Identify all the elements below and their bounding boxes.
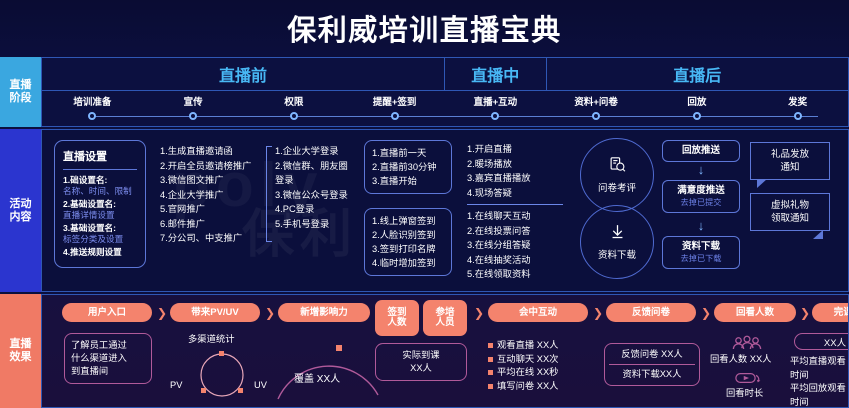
login-item-1: 2.微信群、朋友圈 bbox=[275, 159, 348, 174]
live-item-0: 1.开启直播 bbox=[467, 142, 531, 157]
download-icon bbox=[609, 223, 626, 243]
download-circle-label: 资料下载 bbox=[598, 247, 636, 261]
replay-push-box[interactable]: 回放推送 bbox=[662, 140, 740, 162]
virtual-gift-line1: 虚拟礼物 bbox=[753, 199, 827, 212]
meeting-stat-0: 观看直播 XX人 bbox=[488, 339, 558, 353]
page-title: 保利威培训直播宝典 bbox=[287, 7, 562, 49]
content-row: 活动内容 poly 保利 直播设置 1.础设置名: 名称、时间、限制 2.基础设… bbox=[0, 129, 849, 292]
phase-cell-live[interactable]: 直播中 bbox=[445, 58, 547, 91]
step-label-0: 培训准备 bbox=[73, 94, 111, 108]
live-item-2: 3.嘉宾直播播放 bbox=[467, 171, 531, 186]
live-item-1: 2.暖场播放 bbox=[467, 157, 531, 172]
chevron-2-icon: ❯ bbox=[265, 306, 275, 320]
signin-item-2: 3.签到打印名牌 bbox=[372, 242, 444, 256]
row-label-effect-text: 直播效果 bbox=[10, 338, 32, 364]
promotion-item-1: 2.开启全员邀请榜推广 bbox=[160, 159, 251, 174]
satisfaction-push-main: 满意度推送 bbox=[665, 185, 737, 197]
step-dot-5 bbox=[592, 112, 600, 120]
pill-feedback[interactable]: 反馈问卷 bbox=[606, 303, 696, 322]
signin-item-0: 1.线上弹窗签到 bbox=[372, 214, 444, 228]
phase-header: 直播前 直播中 直播后 bbox=[42, 58, 848, 91]
survey-circle[interactable]: 问卷考评 bbox=[580, 138, 654, 212]
download-circle[interactable]: 资料下载 bbox=[580, 205, 654, 279]
settings-item-0: 1.础设置名: 名称、时间、限制 bbox=[63, 175, 137, 197]
signin-item-1: 2.人脸识别签到 bbox=[372, 228, 444, 242]
feedback-box: 反馈问卷 XX人 资料下载XX人 bbox=[604, 343, 700, 386]
material-download-main: 资料下载 bbox=[665, 241, 737, 253]
pill-attendees[interactable]: 参培人员 bbox=[423, 300, 467, 336]
login-item-4: 5.手机号登录 bbox=[275, 217, 348, 232]
completion-line-0: 平均直播观看时间 bbox=[790, 355, 848, 382]
row-label-content: 活动内容 bbox=[0, 129, 41, 292]
actual-attendance-box: 实际到课XX人 bbox=[375, 343, 467, 381]
pill-user-entry[interactable]: 用户入口 bbox=[62, 303, 152, 322]
uv-label: UV bbox=[254, 379, 267, 393]
step-item-0[interactable]: 培训准备 bbox=[42, 91, 143, 126]
title-bar: 保利威培训直播宝典 bbox=[0, 0, 849, 55]
settings-item-1: 2.基础设置名: 直播详情设置 bbox=[63, 199, 137, 221]
signin-item-3: 4.临时增加签到 bbox=[372, 256, 444, 270]
completion-line-1: 平均回放观看时间 bbox=[790, 382, 848, 408]
interact-list: 1.在线聊天互动 2.在线投票问答 3.在线分组答疑 4.在线抽奖活动 5.在线… bbox=[467, 209, 531, 282]
step-label-1: 宣传 bbox=[184, 94, 203, 108]
gift-notice-line1: 礼品发放 bbox=[753, 148, 827, 161]
replay-push-main: 回放推送 bbox=[665, 145, 737, 157]
settings-item-3: 4.推送规则设置 bbox=[63, 247, 137, 258]
completion-lines: 平均直播观看时间 平均回放观看时间 平均课程观看比例 bbox=[790, 355, 848, 408]
effect-row: 直播效果 用户入口 ❯ 带来PV/UV ❯ 新增影响力 签到人数 参培人员 ❯ … bbox=[0, 294, 849, 408]
login-item-1b: 登录 bbox=[275, 173, 348, 188]
step-item-4[interactable]: 直播+互动 bbox=[445, 91, 546, 126]
gift-notice-bubble[interactable]: 礼品发放 通知 bbox=[750, 142, 830, 180]
survey-circle-label: 问卷考评 bbox=[598, 180, 636, 194]
satisfaction-push-sub: 去掉已提交 bbox=[665, 197, 737, 208]
phase-cell-pre[interactable]: 直播前 bbox=[42, 58, 445, 91]
remind-item-0: 1.直播前一天 bbox=[372, 146, 444, 160]
chevron-5-icon: ❯ bbox=[701, 306, 711, 320]
content-body: poly 保利 直播设置 1.础设置名: 名称、时间、限制 2.基础设置名: 直… bbox=[41, 129, 849, 292]
interact-item-0: 1.在线聊天互动 bbox=[467, 209, 531, 224]
step-label-3: 提醒+签到 bbox=[373, 94, 417, 108]
settings-item-0-sub: 名称、时间、限制 bbox=[63, 186, 137, 197]
chevron-6-icon: ❯ bbox=[800, 306, 810, 320]
satisfaction-push-box[interactable]: 满意度推送 去掉已提交 bbox=[662, 180, 740, 213]
entry-description-box: 了解员工通过什么渠道进入到直播间 bbox=[64, 333, 152, 384]
gift-notice-line2: 通知 bbox=[753, 161, 827, 174]
feedback-divider bbox=[609, 364, 695, 365]
completion-badge: XX人 bbox=[794, 333, 849, 350]
pill-meeting-interaction[interactable]: 会中互动 bbox=[488, 303, 588, 322]
poster-root: 保利威培训直播宝典 直播阶段 直播前 直播中 直播后 培训准备 宣传 bbox=[0, 0, 849, 408]
settings-item-1-sub: 直播详情设置 bbox=[63, 210, 137, 221]
feedback-line-2: 资料下载XX人 bbox=[609, 368, 695, 381]
coverage-label: 覆盖 XX人 bbox=[294, 373, 340, 387]
chevron-4-icon: ❯ bbox=[593, 306, 603, 320]
pill-signin-count[interactable]: 签到人数 bbox=[375, 300, 419, 336]
promotion-item-0: 1.生成直播邀请函 bbox=[160, 144, 251, 159]
stage-body: 直播前 直播中 直播后 培训准备 宣传 权限 提醒 bbox=[41, 57, 849, 127]
row-label-stage: 直播阶段 bbox=[0, 57, 41, 127]
meeting-stat-3: 填写问卷 XX人 bbox=[488, 380, 558, 394]
interact-item-1: 2.在线投票问答 bbox=[467, 224, 531, 239]
settings-item-2-main: 3.基础设置名: bbox=[63, 223, 137, 234]
promotion-item-6: 7.分公司、中支推广 bbox=[160, 231, 251, 246]
promotion-item-5: 6.邮件推广 bbox=[160, 217, 251, 232]
flow-arrow-1: ↓ bbox=[698, 162, 705, 177]
live-settings-box[interactable]: 直播设置 1.础设置名: 名称、时间、限制 2.基础设置名: 直播详情设置 3.… bbox=[54, 140, 146, 268]
interact-item-2: 3.在线分组答疑 bbox=[467, 238, 531, 253]
row-label-effect: 直播效果 bbox=[0, 294, 41, 408]
promotion-item-2: 3.微信图文推广 bbox=[160, 173, 251, 188]
step-dot-2 bbox=[290, 112, 298, 120]
step-item-1[interactable]: 宣传 bbox=[143, 91, 244, 126]
live-item-3: 4.现场答疑 bbox=[467, 186, 531, 201]
meeting-stat-1: 互动聊天 XX次 bbox=[488, 353, 558, 367]
pv-label: PV bbox=[170, 379, 182, 393]
pv-uv-circle-graphic bbox=[188, 347, 256, 403]
promotion-item-3: 4.企业大学推广 bbox=[160, 188, 251, 203]
remind-box[interactable]: 1.直播前一天 2.直播前30分钟 3.直播开始 bbox=[364, 140, 452, 194]
login-bracket bbox=[266, 146, 272, 242]
settings-item-2-sub: 标签分类及设置 bbox=[63, 234, 137, 245]
step-label-4: 直播+互动 bbox=[474, 94, 518, 108]
multichannel-title: 多渠道统计 bbox=[188, 333, 235, 347]
step-label-5: 资料+问卷 bbox=[574, 94, 618, 108]
row-label-stage-text: 直播阶段 bbox=[10, 79, 32, 105]
step-dot-4 bbox=[491, 112, 499, 120]
step-label-2: 权限 bbox=[284, 94, 303, 108]
interact-item-4: 5.在线领取资料 bbox=[467, 267, 531, 282]
stage-row: 直播阶段 直播前 直播中 直播后 培训准备 宣传 权限 bbox=[0, 57, 849, 127]
step-label-7: 发奖 bbox=[788, 94, 807, 108]
pill-replay-count[interactable]: 回看人数 bbox=[714, 303, 796, 322]
replay-duration-text: 回看时长 bbox=[726, 387, 763, 401]
step-dot-7 bbox=[794, 112, 802, 120]
chevron-1-icon: ❯ bbox=[157, 306, 167, 320]
virtual-gift-bubble[interactable]: 虚拟礼物 领取通知 bbox=[750, 193, 830, 231]
step-item-2[interactable]: 权限 bbox=[244, 91, 345, 126]
step-label-6: 回放 bbox=[687, 94, 706, 108]
pill-completion-rate[interactable]: 完课率 bbox=[812, 303, 849, 322]
virtual-gift-line2: 领取通知 bbox=[753, 212, 827, 225]
pill-influence[interactable]: 新增影响力 bbox=[278, 303, 370, 322]
step-dot-6 bbox=[693, 112, 701, 120]
material-download-sub: 去掉已下载 bbox=[665, 253, 737, 264]
step-item-6[interactable]: 回放 bbox=[647, 91, 748, 126]
phase-cell-post[interactable]: 直播后 bbox=[547, 58, 849, 91]
settings-item-1-main: 2.基础设置名: bbox=[63, 199, 137, 210]
step-item-7[interactable]: 发奖 bbox=[747, 91, 848, 126]
chevron-3-icon: ❯ bbox=[474, 306, 484, 320]
effect-body: 用户入口 ❯ 带来PV/UV ❯ 新增影响力 签到人数 参培人员 ❯ 会中互动 … bbox=[41, 294, 849, 408]
login-item-3: 4.PC登录 bbox=[275, 202, 348, 217]
feedback-line-1: 反馈问卷 XX人 bbox=[609, 348, 695, 361]
live-list-divider bbox=[467, 204, 563, 205]
login-item-2: 3.微信公众号登录 bbox=[275, 188, 348, 203]
settings-item-3-main: 4.推送规则设置 bbox=[63, 247, 137, 258]
promotion-item-4: 5.官网推广 bbox=[160, 202, 251, 217]
flow-arrow-2: ↓ bbox=[698, 218, 705, 233]
settings-item-2: 3.基础设置名: 标签分类及设置 bbox=[63, 223, 137, 245]
signin-box[interactable]: 1.线上弹窗签到 2.人脸识别签到 3.签到打印名牌 4.临时增加签到 bbox=[364, 208, 452, 276]
remind-item-2: 3.直播开始 bbox=[372, 174, 444, 188]
step-dot-1 bbox=[189, 112, 197, 120]
live-settings-title: 直播设置 bbox=[63, 148, 137, 170]
row-label-content-text: 活动内容 bbox=[10, 198, 32, 224]
replay-people-text: 回看人数 XX人 bbox=[710, 353, 771, 367]
step-item-5[interactable]: 资料+问卷 bbox=[546, 91, 647, 126]
survey-icon bbox=[609, 156, 626, 176]
material-download-box[interactable]: 资料下载 去掉已下载 bbox=[662, 236, 740, 269]
coverage-arc-graphic bbox=[274, 339, 384, 401]
step-dot-0 bbox=[88, 112, 96, 120]
live-list: 1.开启直播 2.暖场播放 3.嘉宾直播播放 4.现场答疑 bbox=[467, 142, 531, 200]
login-item-0: 1.企业大学登录 bbox=[275, 144, 348, 159]
remind-item-1: 2.直播前30分钟 bbox=[372, 160, 444, 174]
login-list: 1.企业大学登录 2.微信群、朋友圈 登录 3.微信公众号登录 4.PC登录 5… bbox=[275, 144, 348, 231]
pill-pv-uv[interactable]: 带来PV/UV bbox=[170, 303, 260, 322]
step-item-3[interactable]: 提醒+签到 bbox=[344, 91, 445, 126]
settings-item-0-main: 1.础设置名: bbox=[63, 175, 137, 186]
step-header: 培训准备 宣传 权限 提醒+签到 直播+互动 bbox=[42, 91, 848, 126]
meeting-stat-2: 平均在线 XX秒 bbox=[488, 366, 558, 380]
meeting-stats-list: 观看直播 XX人 互动聊天 XX次 平均在线 XX秒 填写问卷 XX人 bbox=[488, 339, 558, 393]
promotion-list: 1.生成直播邀请函 2.开启全员邀请榜推广 3.微信图文推广 4.企业大学推广 … bbox=[160, 144, 251, 246]
step-dot-3 bbox=[391, 112, 399, 120]
interact-item-3: 4.在线抽奖活动 bbox=[467, 253, 531, 268]
